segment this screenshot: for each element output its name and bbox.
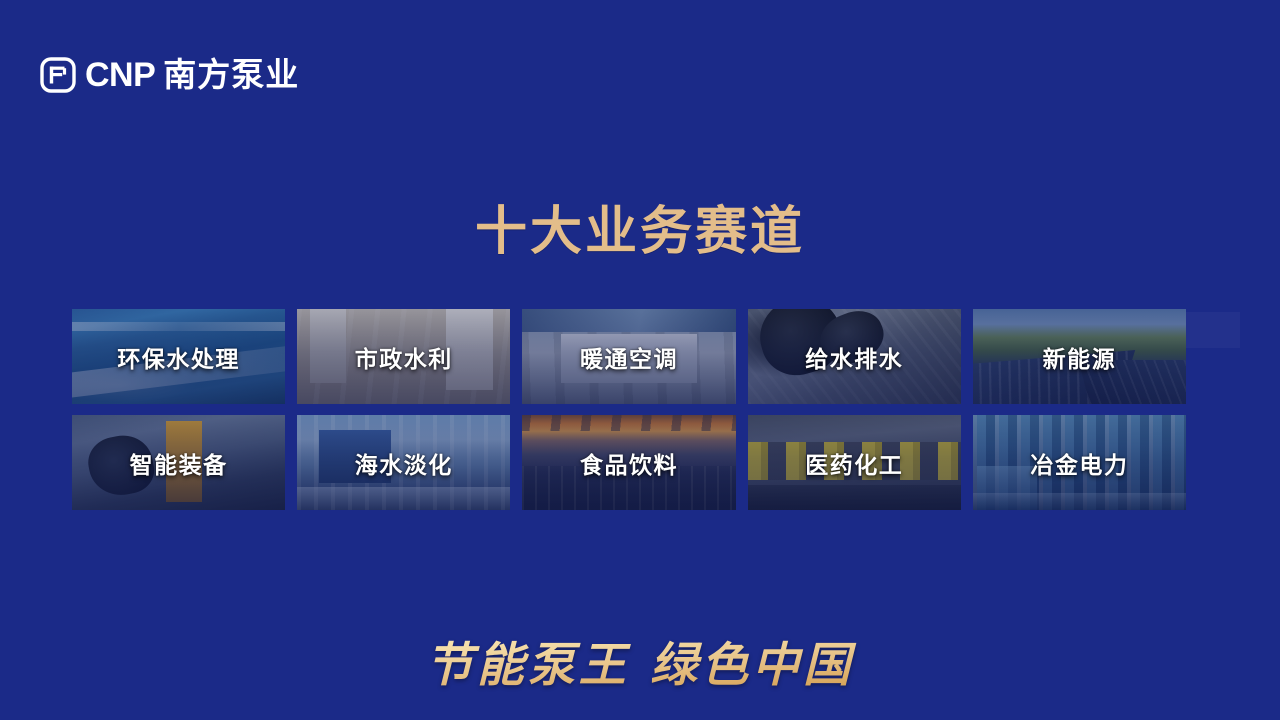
segment-label: 食品饮料 [580, 446, 678, 480]
segment-label: 冶金电力 [1030, 446, 1128, 480]
presentation-slide: CNP 南方泵业 十大业务赛道 环保水处理 市政水利 暖通空调 给水排水 [0, 0, 1280, 720]
brand-chinese-text: 南方泵业 [163, 58, 299, 91]
segment-label: 海水淡化 [355, 446, 453, 480]
segment-label: 新能源 [1043, 340, 1117, 374]
segment-label: 市政水利 [355, 340, 453, 374]
segment-card[interactable]: 市政水利 [297, 309, 510, 404]
segment-label: 智能装备 [130, 446, 228, 480]
background-highlight-artifact [1186, 312, 1240, 348]
segment-card[interactable]: 医药化工 [748, 415, 961, 510]
segment-card[interactable]: 冶金电力 [973, 415, 1186, 510]
brand-logo: CNP 南方泵业 [40, 53, 299, 97]
segment-label: 环保水处理 [117, 340, 240, 374]
segment-card[interactable]: 环保水处理 [72, 309, 285, 404]
segment-card[interactable]: 智能装备 [72, 415, 285, 510]
segment-label: 医药化工 [805, 446, 903, 480]
segment-label: 暖通空调 [580, 340, 678, 374]
segment-card[interactable]: 暖通空调 [522, 309, 735, 404]
segment-card[interactable]: 给水排水 [748, 309, 961, 404]
segment-card[interactable]: 新能源 [973, 309, 1186, 404]
brand-wordmark: CNP 南方泵业 [85, 58, 299, 92]
slide-title: 十大业务赛道 [0, 203, 1280, 263]
segment-card[interactable]: 食品饮料 [522, 415, 735, 510]
segment-label: 给水排水 [805, 340, 903, 374]
business-segment-grid: 环保水处理 市政水利 暖通空调 给水排水 新能源 智能装备 [72, 309, 1186, 510]
slogan-text: 节能泵王 绿色中国 [0, 638, 1280, 694]
cnp-rounded-square-logo-icon [40, 57, 76, 93]
brand-latin-text: CNP [85, 58, 155, 92]
segment-card[interactable]: 海水淡化 [297, 415, 510, 510]
